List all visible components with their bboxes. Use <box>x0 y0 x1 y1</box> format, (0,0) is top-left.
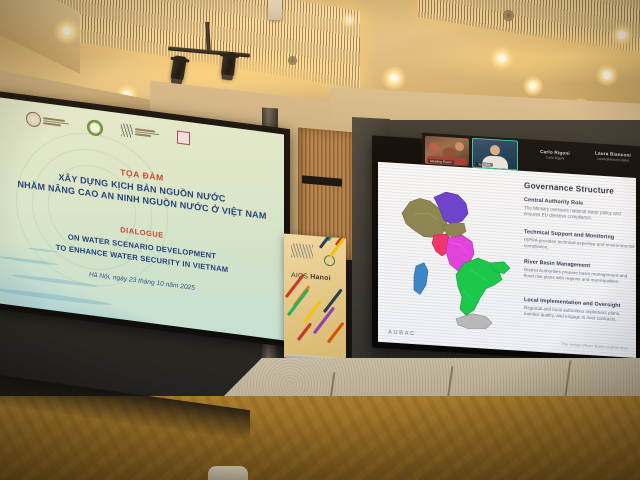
italy-river-basin-district-map <box>394 179 518 333</box>
aics-logo <box>121 123 159 141</box>
aics-banner-logo-icon <box>291 243 313 259</box>
ceiling-grille-panel-right <box>418 0 640 67</box>
video-tile-room[interactable]: Meeting Room <box>425 136 469 167</box>
district-sardinia <box>414 262 428 295</box>
slide-heading: Governance Structure <box>524 181 614 196</box>
red-square-logo <box>177 131 190 146</box>
gov-section-2: Technical Support and Monitoring ISPRA p… <box>524 229 636 256</box>
downlight-9 <box>611 24 633 46</box>
downlight-12 <box>341 12 357 28</box>
participant-entry-2[interactable]: Laura Bianconi Laura Bianconi (Italy) <box>584 150 640 164</box>
slide-footer-note: The Italian River Basin Authorities <box>561 341 628 350</box>
video-tile-speaker-label: Speaker <box>476 162 493 167</box>
downlight-6 <box>490 46 514 70</box>
conference-room-photo: TỌA ĐÀM XÂY DỰNG KỊCH BẢN NGUỒN NƯỚC NHẰ… <box>0 0 640 480</box>
chair-back <box>208 466 248 480</box>
right-presentation-screen[interactable]: Meeting Room Speaker Carlo Rigoni Carlo … <box>372 135 640 364</box>
aubac-logo-text: AUBAC <box>388 329 416 337</box>
downlight-8 <box>596 64 618 86</box>
left-projection-screen[interactable]: TỌA ĐÀM XÂY DỰNG KỊCH BẢN NGUỒN NƯỚC NHẰ… <box>0 91 290 347</box>
aics-hanoi-rollup-banner: AICS Hanoi <box>284 234 346 363</box>
district-sicily <box>456 313 492 330</box>
downlight-1 <box>54 18 80 44</box>
participant-entry-1[interactable]: Carlo Rigoni Carlo Rigoni <box>526 148 584 162</box>
ministry-seal-logo <box>26 111 69 132</box>
gov-section-1: Central Authority Role The Ministry over… <box>524 197 636 224</box>
downlight-7 <box>523 76 543 96</box>
green-circle-logo <box>87 119 103 137</box>
banner-title-bold: Hanoi <box>310 274 330 283</box>
gov-section-3: River Basin Management District Authorit… <box>524 259 636 286</box>
ceiling-vent-2 <box>503 10 514 21</box>
governance-slide: Governance Structure Central Authority R… <box>378 162 636 358</box>
stage-spotlight-2 <box>221 51 237 78</box>
ceiling-vent-1 <box>288 56 297 65</box>
ceiling-speaker <box>268 0 282 20</box>
gov-section-4: Local Implementation and Oversight Regio… <box>524 297 636 324</box>
downlight-4 <box>382 66 406 90</box>
video-tile-speaker[interactable]: Speaker <box>472 138 518 171</box>
video-tile-room-label: Meeting Room <box>428 159 454 165</box>
